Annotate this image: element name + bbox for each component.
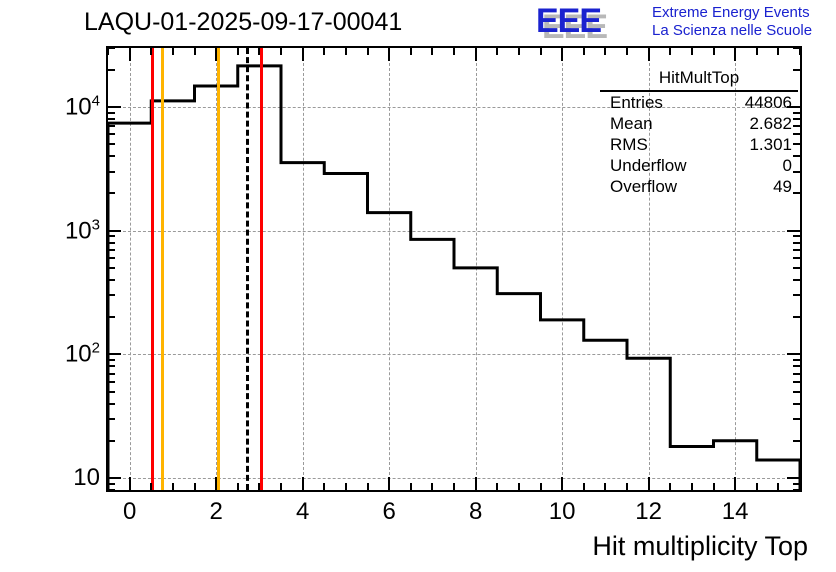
x-tick-minor (172, 483, 174, 490)
y-tick-minor (108, 316, 115, 318)
x-tick-top-major (561, 48, 563, 61)
x-tick-label: 0 (123, 498, 136, 526)
y-tick-minor (108, 294, 115, 296)
x-tick-top-minor (367, 48, 369, 55)
x-tick-top-minor (323, 48, 325, 55)
stats-row: Underflow0 (600, 155, 798, 176)
y-tick-minor (108, 391, 115, 393)
x-tick-top-minor (431, 48, 433, 55)
x-tick-minor (345, 483, 347, 490)
x-tick-major (734, 477, 736, 490)
x-tick-top-minor (237, 48, 239, 55)
stats-row-value: 0 (783, 156, 792, 175)
x-tick-top-major (475, 48, 477, 61)
x-tick-minor (194, 483, 196, 490)
y-tick-right-minor (793, 403, 800, 405)
stats-row-value: 44806 (745, 93, 792, 112)
y-tick-minor (108, 257, 115, 259)
y-tick-label: 10 (73, 464, 100, 492)
y-tick-minor (108, 143, 115, 145)
x-tick-minor (431, 483, 433, 490)
x-tick-label: 6 (382, 498, 395, 526)
y-tick-right-minor (793, 440, 800, 442)
stats-row-key: RMS (610, 135, 648, 154)
y-tick-right-minor (793, 483, 800, 485)
x-tick-minor (518, 483, 520, 490)
y-tick-major (108, 230, 121, 232)
threshold-mid-orange (217, 48, 220, 490)
y-tick-right-major (787, 477, 800, 479)
y-tick-minor (108, 155, 115, 157)
x-tick-top-minor (107, 48, 109, 55)
stats-row: Mean2.682 (600, 113, 798, 134)
x-tick-minor (323, 483, 325, 490)
stats-row-key: Overflow (610, 177, 677, 196)
x-tick-top-minor (604, 48, 606, 55)
stats-row-value: 1.301 (749, 135, 792, 154)
x-tick-minor (367, 483, 369, 490)
y-tick-minor (108, 125, 115, 127)
eee-logo-text: Extreme Energy Events La Scienza nelle S… (652, 4, 812, 40)
x-tick-major (215, 477, 217, 490)
x-tick-minor (150, 483, 152, 490)
x-tick-top-major (388, 48, 390, 61)
x-tick-label: 4 (296, 498, 309, 526)
x-tick-major (475, 477, 477, 490)
x-tick-minor (713, 483, 715, 490)
x-tick-minor (756, 483, 758, 490)
x-tick-major (129, 477, 131, 490)
eee-logo-line2: La Scienza nelle Scuole (652, 22, 812, 40)
x-tick-top-minor (172, 48, 174, 55)
stats-row-key: Entries (610, 93, 663, 112)
y-tick-minor (108, 235, 115, 237)
y-tick-minor (108, 69, 115, 71)
x-tick-major (561, 477, 563, 490)
x-tick-top-minor (453, 48, 455, 55)
stats-row: Overflow49 (600, 176, 798, 197)
x-tick-top-minor (669, 48, 671, 55)
y-tick-right-minor (793, 257, 800, 259)
x-tick-top-minor (410, 48, 412, 55)
y-tick-right-minor (793, 359, 800, 361)
y-tick-right-minor (793, 242, 800, 244)
eee-logo-line1: Extreme Energy Events (652, 4, 812, 22)
eee-logo: EEE EEE Extreme Energy Events La Scienza… (536, 2, 834, 44)
x-tick-top-minor (496, 48, 498, 55)
y-tick-label: 102 (65, 340, 100, 369)
x-tick-top-minor (691, 48, 693, 55)
x-tick-top-minor (756, 48, 758, 55)
y-tick-right-minor (793, 418, 800, 420)
x-tick-top-minor (518, 48, 520, 55)
stats-row: Entries44806 (600, 92, 798, 113)
x-tick-minor (280, 483, 282, 490)
x-tick-minor (540, 483, 542, 490)
y-tick-minor (108, 242, 115, 244)
x-tick-top-major (734, 48, 736, 61)
x-tick-label: 12 (635, 498, 662, 526)
x-tick-top-minor (150, 48, 152, 55)
y-tick-minor (108, 112, 115, 114)
x-tick-label: 8 (469, 498, 482, 526)
y-tick-minor (108, 418, 115, 420)
y-tick-minor (108, 365, 115, 367)
x-tick-top-major (215, 48, 217, 61)
x-tick-minor (777, 483, 779, 490)
y-tick-minor (108, 373, 115, 375)
y-tick-right-major (787, 230, 800, 232)
stats-row-value: 2.682 (749, 114, 792, 133)
x-tick-top-minor (540, 48, 542, 55)
page-title: LAQU-01-2025-09-17-00041 (84, 8, 402, 37)
x-tick-minor (258, 483, 260, 490)
x-tick-minor (604, 483, 606, 490)
eee-logo-mark-front: EEE (536, 4, 601, 38)
root-canvas: LAQU-01-2025-09-17-00041 EEE EEE Extreme… (0, 0, 836, 572)
y-tick-major (108, 353, 121, 355)
y-tick-minor (108, 192, 115, 194)
y-tick-right-minor (793, 489, 800, 491)
threshold-low-red (151, 48, 154, 490)
x-tick-top-major (302, 48, 304, 61)
y-tick-major (108, 106, 121, 108)
stats-row-key: Mean (610, 114, 653, 133)
threshold-high-red (260, 48, 263, 490)
x-tick-top-minor (713, 48, 715, 55)
x-tick-top-minor (583, 48, 585, 55)
mean-line (246, 48, 249, 490)
x-tick-major (388, 477, 390, 490)
y-tick-right-minor (793, 279, 800, 281)
y-tick-minor (108, 489, 115, 491)
x-tick-minor (496, 483, 498, 490)
y-tick-minor (108, 47, 115, 49)
x-tick-minor (669, 483, 671, 490)
x-tick-label: 14 (722, 498, 749, 526)
stats-box: HitMultTop Entries44806Mean2.682RMS1.301… (600, 68, 798, 197)
x-tick-top-minor (777, 48, 779, 55)
y-tick-right-minor (793, 316, 800, 318)
y-tick-minor (108, 118, 115, 120)
y-tick-minor (108, 279, 115, 281)
y-tick-right-minor (793, 294, 800, 296)
stats-row-value: 49 (773, 177, 792, 196)
y-tick-right-minor (793, 47, 800, 49)
y-tick-right-minor (793, 267, 800, 269)
y-tick-minor (108, 249, 115, 251)
x-tick-label: 10 (549, 498, 576, 526)
eee-logo-mark: EEE EEE (536, 4, 646, 40)
x-tick-top-major (129, 48, 131, 61)
x-tick-minor (237, 483, 239, 490)
stats-rows: Entries44806Mean2.682RMS1.301Underflow0O… (600, 92, 798, 197)
stats-row-key: Underflow (610, 156, 687, 175)
y-tick-minor (108, 483, 115, 485)
y-tick-right-minor (793, 381, 800, 383)
y-tick-label: 104 (65, 93, 100, 122)
y-tick-label: 103 (65, 216, 100, 245)
x-tick-top-minor (258, 48, 260, 55)
x-tick-minor (410, 483, 412, 490)
y-tick-minor (108, 440, 115, 442)
stats-row: RMS1.301 (600, 134, 798, 155)
y-tick-minor (108, 359, 115, 361)
y-tick-right-minor (793, 235, 800, 237)
x-tick-minor (691, 483, 693, 490)
y-tick-right-minor (793, 391, 800, 393)
x-tick-major (648, 477, 650, 490)
x-axis-title: Hit multiplicity Top (592, 531, 808, 562)
y-tick-minor (108, 403, 115, 405)
y-tick-minor (108, 381, 115, 383)
y-tick-minor (108, 133, 115, 135)
stats-title: HitMultTop (600, 68, 798, 92)
threshold-low-orange (161, 48, 164, 490)
x-tick-top-minor (345, 48, 347, 55)
x-tick-label: 2 (209, 498, 222, 526)
y-tick-minor (108, 171, 115, 173)
x-tick-major (302, 477, 304, 490)
x-tick-top-minor (626, 48, 628, 55)
x-tick-minor (583, 483, 585, 490)
x-tick-minor (453, 483, 455, 490)
x-tick-top-minor (194, 48, 196, 55)
y-tick-major (108, 477, 121, 479)
y-tick-right-major (787, 353, 800, 355)
x-tick-top-minor (799, 48, 801, 55)
x-tick-minor (626, 483, 628, 490)
y-tick-right-minor (793, 249, 800, 251)
x-tick-top-minor (280, 48, 282, 55)
y-tick-right-minor (793, 365, 800, 367)
x-tick-top-major (648, 48, 650, 61)
y-tick-minor (108, 267, 115, 269)
y-tick-right-minor (793, 373, 800, 375)
